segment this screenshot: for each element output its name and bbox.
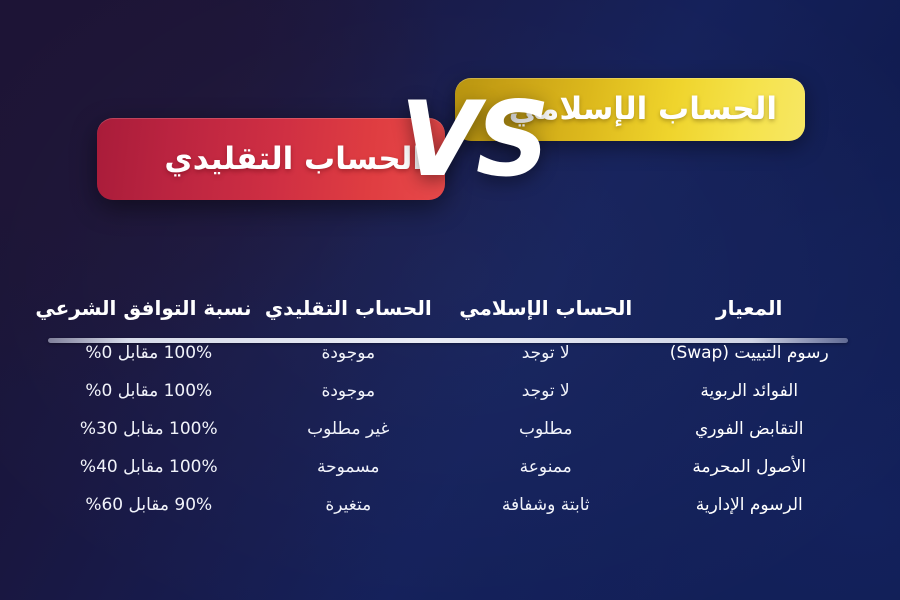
- cell-islamic: مطلوب: [445, 410, 647, 448]
- column-header-conventional: الحساب التقليدي: [252, 296, 445, 334]
- cell-compliance: 100% مقابل 0%: [46, 334, 252, 372]
- cell-islamic: ثابتة وشفافة: [445, 486, 647, 524]
- table-row: الفوائد الربوية لا توجد موجودة 100% مقاب…: [46, 372, 852, 410]
- cell-compliance: 100% مقابل 40%: [46, 448, 252, 486]
- cell-criterion: رسوم التبييت (Swap): [646, 334, 852, 372]
- table-body: رسوم التبييت (Swap) لا توجد موجودة 100% …: [46, 334, 852, 524]
- versus-label: VS: [383, 78, 563, 203]
- cell-islamic: لا توجد: [445, 334, 647, 372]
- cell-criterion: التقابض الفوري: [646, 410, 852, 448]
- cell-criterion: الفوائد الربوية: [646, 372, 852, 410]
- cell-conventional: متغيرة: [252, 486, 445, 524]
- cell-compliance: 90% مقابل 60%: [46, 486, 252, 524]
- cell-conventional: مسموحة: [252, 448, 445, 486]
- cell-compliance: 100% مقابل 0%: [46, 372, 252, 410]
- cell-compliance: 100% مقابل 30%: [46, 410, 252, 448]
- table-row: الرسوم الإدارية ثابتة وشفافة متغيرة 90% …: [46, 486, 852, 524]
- comparison-table: المعيار الحساب الإسلامي الحساب التقليدي …: [46, 296, 852, 524]
- header-badges: الحساب الإسلامي الحساب التقليدي VS: [0, 0, 900, 250]
- table-header-row: المعيار الحساب الإسلامي الحساب التقليدي …: [46, 296, 852, 334]
- infographic-canvas: الحساب الإسلامي الحساب التقليدي VS المعي…: [0, 0, 900, 600]
- table-row: رسوم التبييت (Swap) لا توجد موجودة 100% …: [46, 334, 852, 372]
- cell-conventional: غير مطلوب: [252, 410, 445, 448]
- table-row: التقابض الفوري مطلوب غير مطلوب 100% مقاب…: [46, 410, 852, 448]
- comparison-table-wrapper: المعيار الحساب الإسلامي الحساب التقليدي …: [46, 296, 852, 524]
- cell-criterion: الرسوم الإدارية: [646, 486, 852, 524]
- cell-criterion: الأصول المحرمة: [646, 448, 852, 486]
- column-header-islamic: الحساب الإسلامي: [445, 296, 647, 334]
- cell-islamic: لا توجد: [445, 372, 647, 410]
- column-header-criterion: المعيار: [646, 296, 852, 334]
- cell-conventional: موجودة: [252, 334, 445, 372]
- table-row: الأصول المحرمة ممنوعة مسموحة 100% مقابل …: [46, 448, 852, 486]
- table-head: المعيار الحساب الإسلامي الحساب التقليدي …: [46, 296, 852, 334]
- cell-islamic: ممنوعة: [445, 448, 647, 486]
- cell-conventional: موجودة: [252, 372, 445, 410]
- column-header-compliance: نسبة التوافق الشرعي: [46, 296, 252, 334]
